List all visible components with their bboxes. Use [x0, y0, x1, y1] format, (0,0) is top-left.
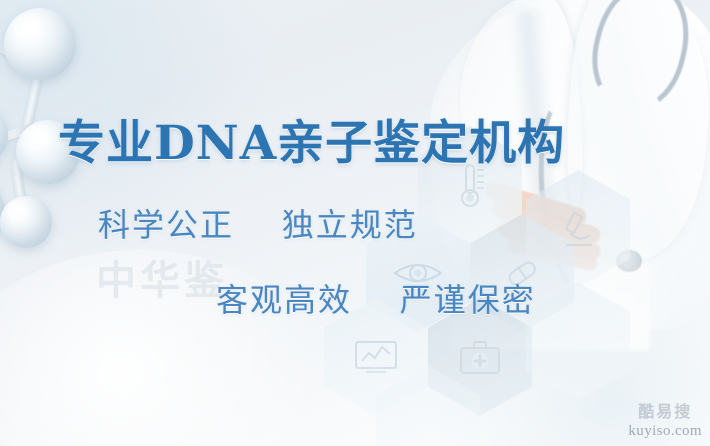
headline-block: 中华鉴 专业DNA亲子鉴定机构 科学公正 独立规范 客观高效 严谨保密 [0, 0, 710, 446]
subtitle-1-left: 科学公正 [98, 207, 234, 243]
center-watermark: 中华鉴 [96, 248, 228, 306]
dna-paternity-test-banner: 中华鉴 专业DNA亲子鉴定机构 科学公正 独立规范 客观高效 严谨保密 酷易搜 … [0, 0, 710, 446]
subtitle-line-2: 客观高效 严谨保密 [216, 275, 536, 321]
subtitle-1-right: 独立规范 [282, 207, 418, 243]
subtitle-2-right: 严谨保密 [400, 282, 536, 318]
page-title: 专业DNA亲子鉴定机构 [58, 104, 565, 173]
subtitle-line-1: 科学公正 独立规范 [98, 200, 418, 246]
subtitle-2-left: 客观高效 [216, 282, 352, 318]
